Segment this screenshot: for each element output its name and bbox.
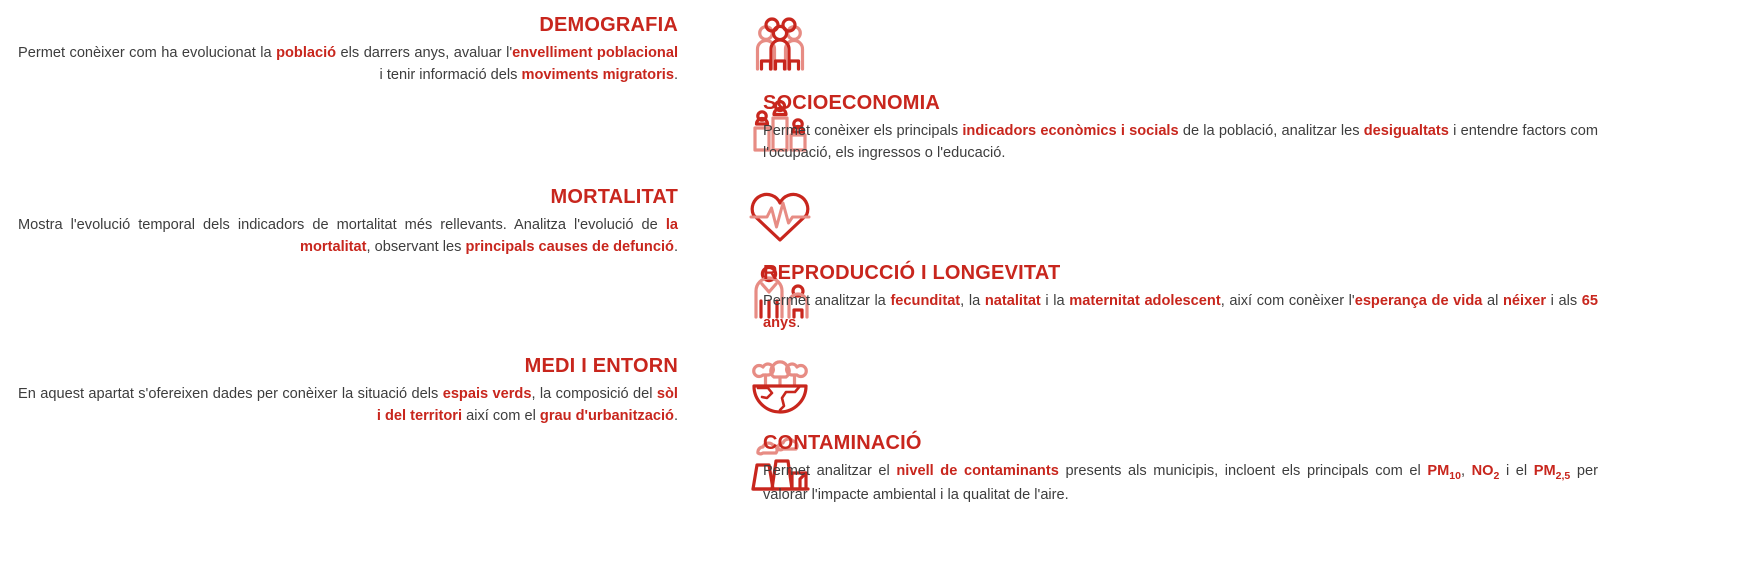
section-title-demografia: DEMOGRAFIA bbox=[18, 14, 678, 37]
section-paragraph-reproduccio-i-longevitat: Permet analitzar la fecunditat, la natal… bbox=[763, 291, 1598, 335]
section-title-socioeconomia: SOCIOECONOMIA bbox=[763, 92, 1598, 115]
section-paragraph-demografia: Permet conèixer com ha evolucionat la po… bbox=[18, 43, 678, 87]
infographic-canvas: DEMOGRAFIA Permet conèixer com ha evoluc… bbox=[0, 0, 1749, 567]
section-paragraph-socioeconomia: Permet conèixer els principals indicador… bbox=[763, 121, 1598, 165]
section-reproduccio-i-longevitat: REPRODUCCIÓ I LONGEVITAT Permet analitza… bbox=[763, 262, 1598, 335]
section-paragraph-contaminacio: Permet analitzar el nivell de contaminan… bbox=[763, 461, 1598, 507]
section-title-contaminacio: CONTAMINACIÓ bbox=[763, 432, 1598, 455]
section-medi-i-entorn: MEDI I ENTORN En aquest apartat s'oferei… bbox=[18, 355, 678, 428]
group-of-people-icon bbox=[745, 16, 815, 78]
section-title-medi-i-entorn: MEDI I ENTORN bbox=[18, 355, 678, 378]
section-contaminacio: CONTAMINACIÓ Permet analitzar el nivell … bbox=[763, 432, 1598, 507]
section-title-reproduccio-i-longevitat: REPRODUCCIÓ I LONGEVITAT bbox=[763, 262, 1598, 285]
section-socioeconomia: SOCIOECONOMIA Permet conèixer els princi… bbox=[763, 92, 1598, 165]
section-mortalitat: MORTALITAT Mostra l'evolució temporal de… bbox=[18, 186, 678, 259]
section-paragraph-medi-i-entorn: En aquest apartat s'ofereixen dades per … bbox=[18, 384, 678, 428]
section-paragraph-mortalitat: Mostra l'evolució temporal dels indicado… bbox=[18, 215, 678, 259]
trees-globe-icon bbox=[745, 355, 815, 417]
heart-pulse-icon bbox=[745, 186, 815, 248]
section-title-mortalitat: MORTALITAT bbox=[18, 186, 678, 209]
section-demografia: DEMOGRAFIA Permet conèixer com ha evoluc… bbox=[18, 14, 678, 87]
